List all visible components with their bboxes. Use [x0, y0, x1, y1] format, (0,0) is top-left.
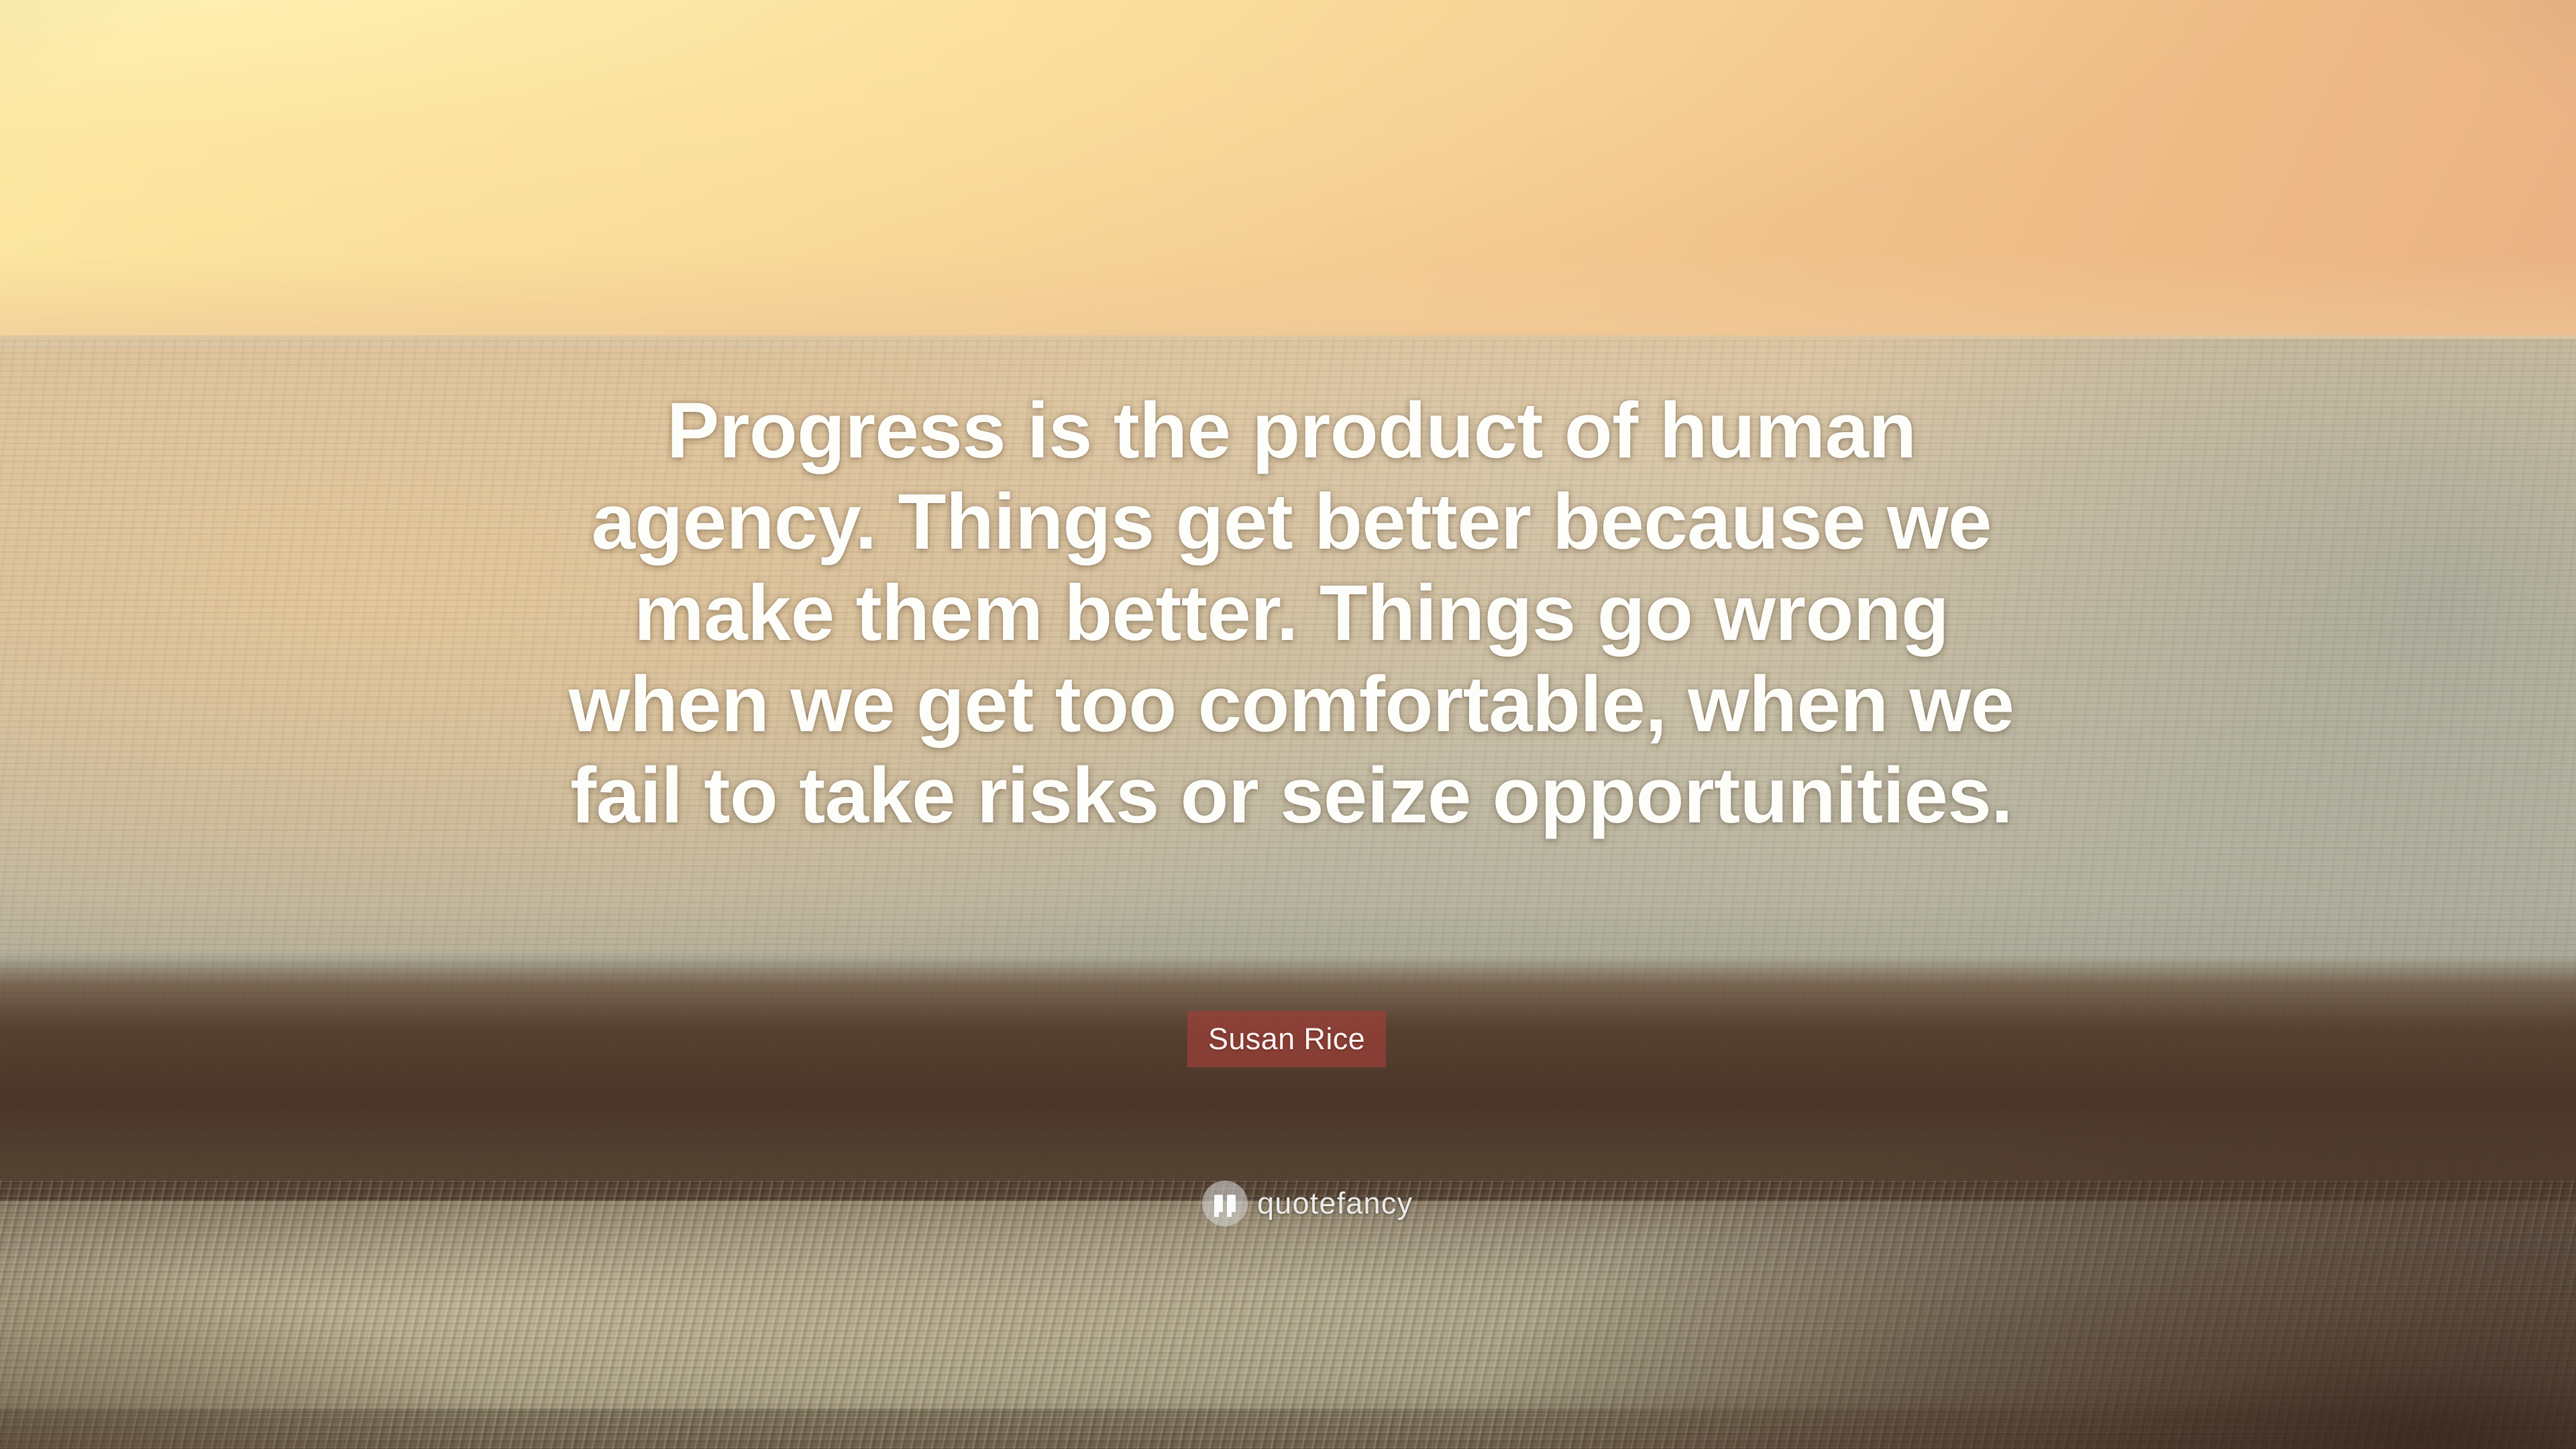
brand-name: quotefancy [1257, 1186, 1413, 1221]
author-name: Susan Rice [1208, 1022, 1365, 1057]
quote-poster: Progress is the product of human agency.… [0, 0, 2576, 1449]
quotefancy-watermark[interactable]: quotefancy [1202, 1179, 1413, 1228]
quote-line: make them better. Things go wrong [506, 568, 2076, 659]
quote-line: when we get too comfortable, when we [506, 659, 2076, 750]
double-quote-glyph [1214, 1195, 1236, 1212]
quote-text-block: Progress is the product of human agency.… [506, 385, 2076, 841]
quote-line: Progress is the product of human [506, 385, 2076, 476]
author-badge[interactable]: Susan Rice [1187, 1011, 1386, 1067]
quote-line: agency. Things get better because we [506, 476, 2076, 568]
double-quote-icon [1202, 1181, 1248, 1226]
quote-line: fail to take risks or seize opportunitie… [506, 750, 2076, 841]
